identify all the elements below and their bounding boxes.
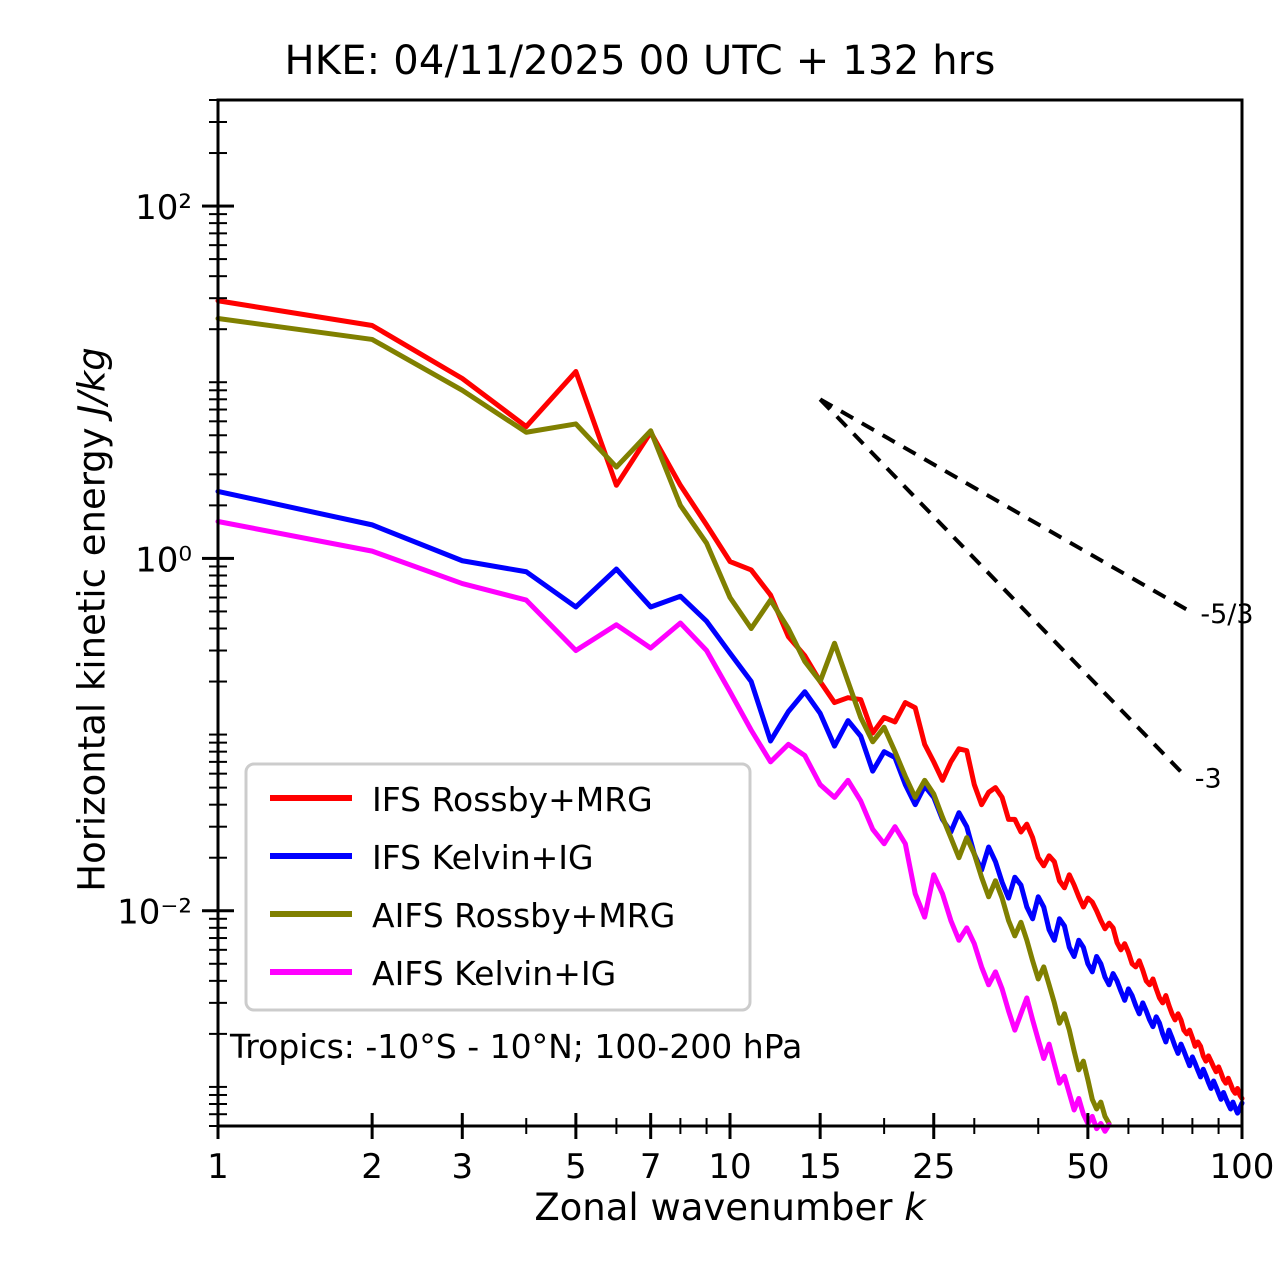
y-tick-label-0: 10² (135, 188, 192, 228)
y-tick-label-2: 10⁻² (117, 893, 192, 933)
reference-slope-label-0: -5/3 (1200, 599, 1253, 630)
legend-label-2[interactable]: AIFS Rossby+MRG (372, 896, 675, 935)
x-tick-label-9: 100 (1210, 1147, 1275, 1187)
x-tick-label-3: 5 (565, 1147, 587, 1187)
x-tick-label-7: 25 (912, 1147, 955, 1187)
legend-label-3[interactable]: AIFS Kelvin+IG (372, 954, 616, 993)
x-tick-label-0: 1 (207, 1147, 229, 1187)
region-annotation: Tropics: -10°S - 10°N; 100-200 hPa (229, 1027, 802, 1066)
legend-label-0[interactable]: IFS Rossby+MRG (372, 780, 653, 819)
plot-svg: -5/3-3 123571015255010010²10⁰10⁻² IFS Ro… (0, 0, 1280, 1288)
legend-label-1[interactable]: IFS Kelvin+IG (372, 838, 594, 877)
annotation-layer: Tropics: -10°S - 10°N; 100-200 hPa (229, 1027, 802, 1066)
x-tick-label-1: 2 (361, 1147, 383, 1187)
legend[interactable]: IFS Rossby+MRGIFS Kelvin+IGAIFS Rossby+M… (246, 764, 750, 1010)
figure-root: HKE: 04/11/2025 00 UTC + 132 hrs Horizon… (0, 0, 1280, 1288)
x-tick-label-6: 15 (799, 1147, 842, 1187)
x-tick-label-4: 7 (640, 1147, 662, 1187)
x-tick-label-8: 50 (1066, 1147, 1109, 1187)
x-tick-label-5: 10 (708, 1147, 751, 1187)
y-tick-label-1: 10⁰ (135, 540, 192, 580)
reference-slope-label-1: -3 (1195, 764, 1222, 795)
x-tick-label-2: 3 (451, 1147, 473, 1187)
